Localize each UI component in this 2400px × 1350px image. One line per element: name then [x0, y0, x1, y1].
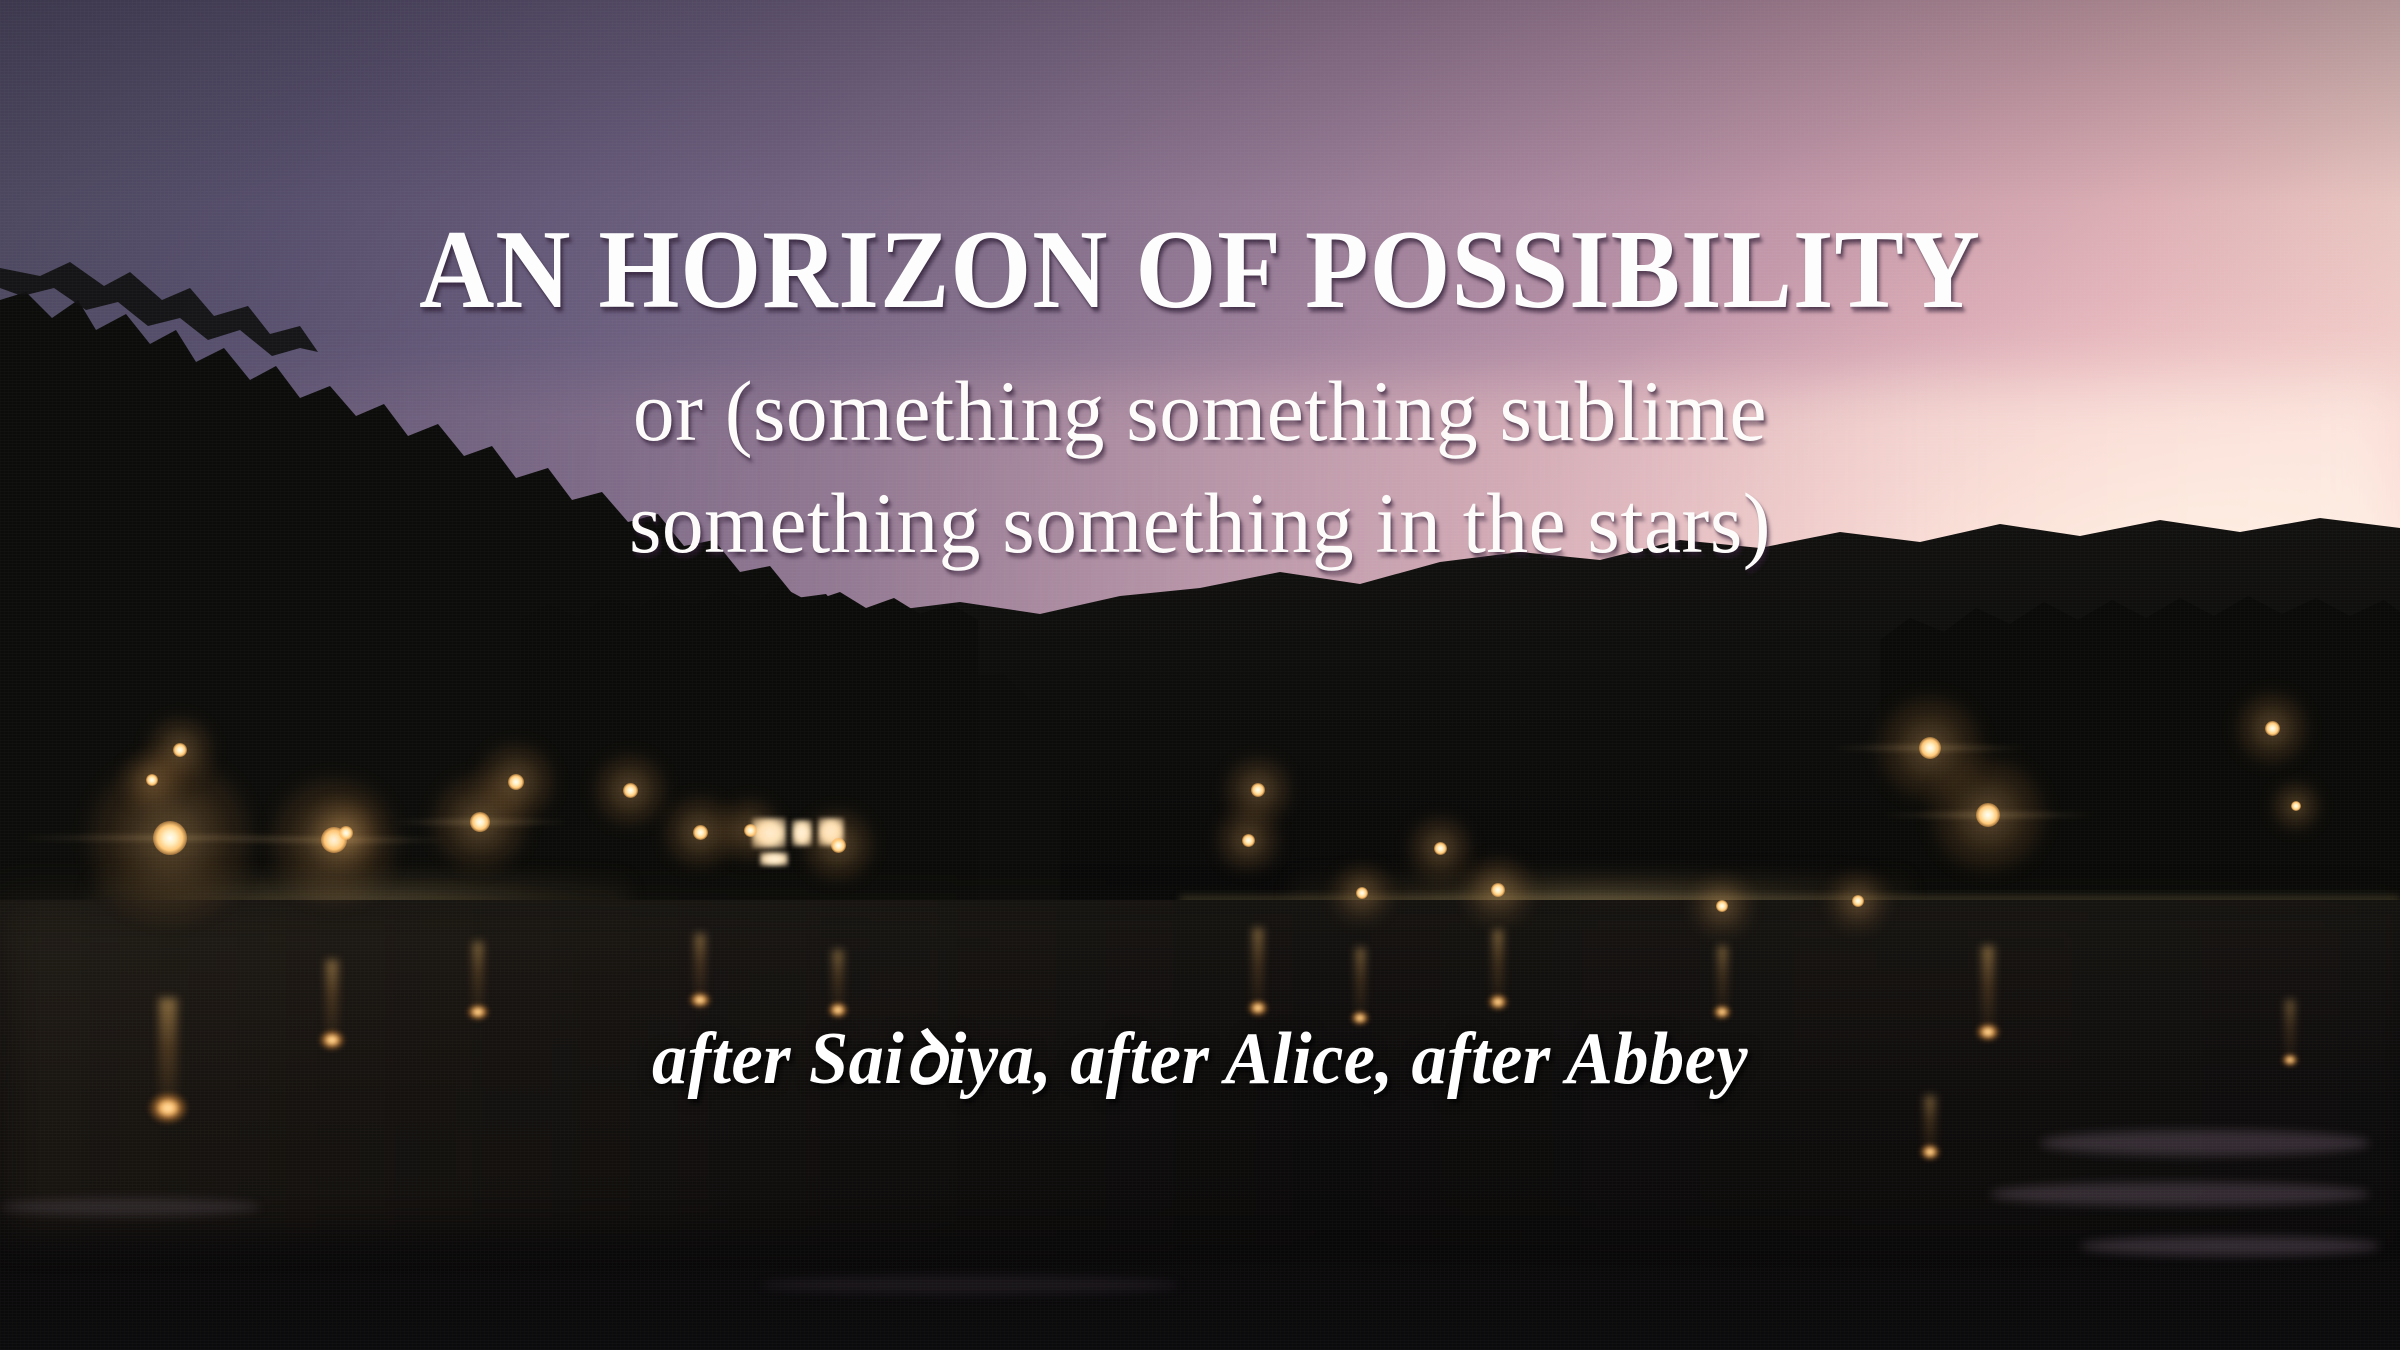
street-lamp-light — [173, 743, 187, 757]
lamp-reflection — [466, 1003, 490, 1021]
street-lamp-light — [1491, 883, 1505, 897]
street-lamp-light — [1716, 900, 1728, 912]
lamp-reflection — [147, 1091, 189, 1125]
street-lamp-light — [1852, 895, 1864, 907]
credit-line: after Saiꝺiya, after Alice, after Abbey — [60, 1022, 2340, 1096]
street-lamp-light — [1434, 842, 1447, 855]
lamp-reflection — [827, 1001, 849, 1019]
video-frame: AN HORIZON OF POSSIBILITY or (something … — [0, 0, 2400, 1350]
street-lamp-light — [1356, 887, 1368, 899]
lamp-reflection — [1487, 993, 1509, 1011]
street-lamp-light — [2265, 721, 2280, 736]
street-lamp-light — [470, 812, 490, 832]
lamp-reflection — [688, 991, 712, 1009]
street-lamp-light — [744, 824, 757, 837]
reflection-streak — [1493, 930, 1503, 1002]
street-lamp-light — [146, 774, 158, 786]
reflection-streak — [1718, 946, 1727, 1012]
water-ripple — [2080, 1236, 2380, 1256]
reflection-streak — [1982, 946, 1994, 1032]
street-lamp-light — [1242, 834, 1255, 847]
street-lamp-light — [831, 838, 846, 853]
water-ripple — [1990, 1182, 2370, 1206]
reflection-streak — [473, 942, 484, 1012]
street-lamp-light — [153, 821, 187, 855]
water-ripple — [760, 1276, 1180, 1294]
water-ripple — [2040, 1130, 2370, 1156]
reflection-streak — [1253, 928, 1263, 1008]
street-lamp-light — [2291, 801, 2301, 811]
lamp-reflection — [1919, 1143, 1941, 1161]
street-lamp-light — [1976, 803, 2000, 827]
street-lamp-light — [623, 783, 638, 798]
water-ripple — [0, 1198, 260, 1216]
street-lamp-light — [508, 774, 524, 790]
street-lamp-light — [339, 826, 353, 840]
lamp-reflection — [1247, 999, 1269, 1017]
street-lamp-light — [1251, 783, 1265, 797]
street-lamp-light — [1919, 737, 1941, 759]
reflection-streak — [1356, 948, 1365, 1018]
street-lamp-light — [693, 825, 708, 840]
